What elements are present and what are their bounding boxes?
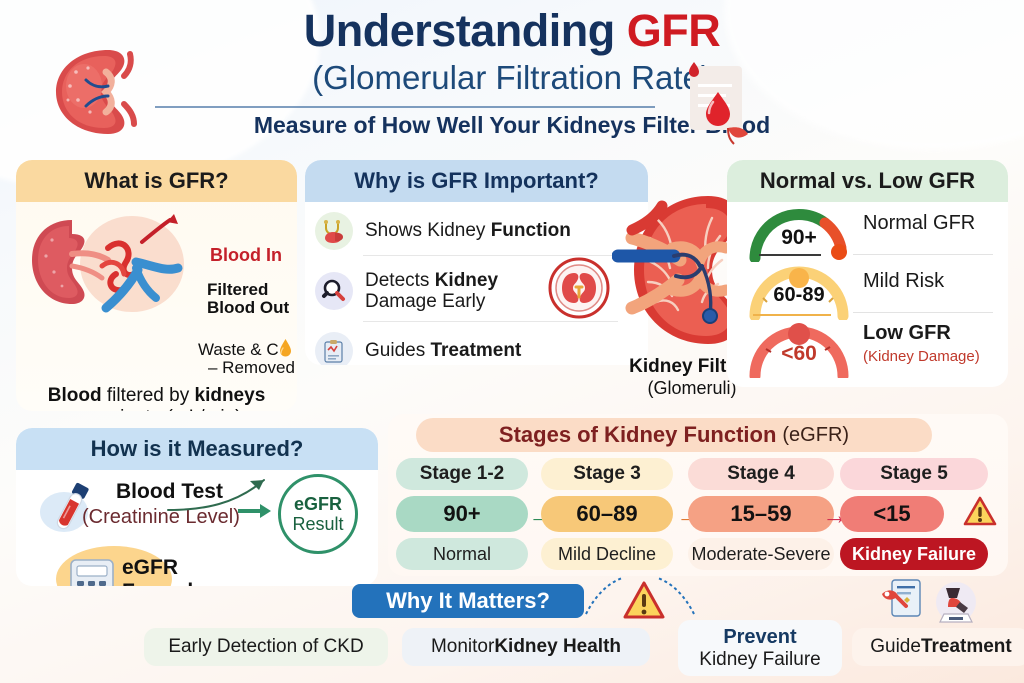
panel-stages-of-kidney-function: Stages of Kidney Function(eGFR) Stage 1-… bbox=[388, 414, 1008, 576]
page-tagline: Measure of How Well Your Kidneys Filter … bbox=[0, 112, 1024, 139]
warning-triangle-icon bbox=[622, 580, 666, 620]
gauge-label-normal: Normal GFR bbox=[863, 212, 975, 235]
header: Understanding GFR (Glomerular Filtration… bbox=[0, 0, 1024, 155]
stage-column-1: Stage 1-2 90+ Normal bbox=[396, 458, 528, 570]
matters-item-guide-treatment: Guide Treatment bbox=[852, 628, 1024, 666]
divider bbox=[853, 312, 993, 313]
curved-arrow-icon bbox=[164, 470, 284, 518]
stage-value: 60–89 bbox=[541, 496, 673, 532]
stethoscope-kidney-icon bbox=[315, 212, 353, 250]
infographic-canvas: Understanding GFR (Glomerular Filtration… bbox=[0, 0, 1024, 683]
stage-description: Kidney Failure bbox=[840, 538, 988, 570]
list-item: Guides Treatment bbox=[315, 326, 631, 365]
clipboard-report-icon bbox=[315, 332, 353, 365]
blood-report-icon bbox=[672, 58, 760, 148]
panel-what-is-gfr: What is GFR? bbox=[16, 160, 297, 411]
stage-description: Normal bbox=[396, 538, 528, 570]
stage-name: Stage 1-2 bbox=[396, 458, 528, 490]
stage-description: Mild Decline bbox=[541, 538, 673, 570]
label-filtered-blood-out: FilteredBlood Out bbox=[207, 281, 289, 317]
panel-what-is-gfr-heading: What is GFR? bbox=[16, 160, 297, 202]
medical-document-icon bbox=[878, 578, 924, 624]
gauge-label-mild: Mild Risk bbox=[863, 270, 944, 293]
panel-normal-vs-low-heading: Normal vs. Low GFR bbox=[727, 160, 1008, 202]
warning-triangle-icon bbox=[963, 496, 997, 526]
stages-heading: Stages of Kidney Function(eGFR) bbox=[416, 418, 932, 452]
matters-item-monitor-health: Monitor Kidney Health bbox=[402, 628, 650, 666]
gauge-label-low: Low GFR bbox=[863, 322, 951, 345]
egfr-result-badge: eGFR Result bbox=[278, 474, 358, 554]
gauge-row-low: <60 Low GFR (Kidney Damage) bbox=[735, 322, 1001, 378]
divider bbox=[853, 254, 993, 255]
stage-name: Stage 5 bbox=[840, 458, 988, 490]
stage-description: Moderate-Severe bbox=[688, 538, 834, 570]
stage-name: Stage 4 bbox=[688, 458, 834, 490]
panel-why-important-heading: Why is GFR Important? bbox=[305, 160, 648, 202]
panel-why-it-matters: Why It Matters? Ea bbox=[130, 578, 1024, 683]
magnifier-icon bbox=[315, 272, 353, 310]
label-blood-in: Blood In bbox=[210, 246, 282, 265]
why-it-matters-heading: Why It Matters? bbox=[352, 584, 584, 618]
page-title: Understanding GFR bbox=[0, 6, 1024, 56]
gauge-value-normal: 90+ bbox=[747, 226, 851, 250]
stage-value: 90+ bbox=[396, 496, 528, 532]
divider bbox=[363, 255, 618, 256]
page-title-accent: GFR bbox=[627, 5, 721, 56]
calculator-icon bbox=[68, 558, 116, 586]
urine-drop-icon bbox=[278, 338, 293, 358]
stage-name: Stage 3 bbox=[541, 458, 673, 490]
gauge-note-low: (Kidney Damage) bbox=[863, 348, 980, 365]
stage-column-3: Stage 4 15–59 Moderate-Severe bbox=[688, 458, 834, 570]
list-item-label: Guides Treatment bbox=[365, 340, 521, 361]
stage-value: <15 bbox=[840, 496, 944, 532]
list-item-label: Shows Kidney Function bbox=[365, 220, 571, 241]
glomerulus-diagram-icon bbox=[24, 208, 184, 330]
panel-normal-vs-low-gfr: Normal vs. Low GFR 90+ Normal GFR bbox=[727, 160, 1008, 387]
title-divider bbox=[155, 106, 655, 108]
page-subtitle: (Glomerular Filtration Rate) bbox=[0, 60, 1024, 96]
divider bbox=[363, 321, 618, 322]
matters-item-prevent-failure: Prevent Kidney Failure bbox=[678, 620, 842, 676]
what-is-gfr-footer: Blood filtered by kidneys per minute (mL… bbox=[16, 385, 297, 411]
matters-item-early-detection: Early Detection of CKD bbox=[144, 628, 388, 666]
stage-column-2: Stage 3 60–89 Mild Decline bbox=[541, 458, 673, 570]
gauge-value-mild: 60-89 bbox=[747, 284, 851, 307]
page-title-main: Understanding bbox=[304, 5, 627, 56]
gauge-value-low: <60 bbox=[747, 342, 851, 366]
treatment-stamp-icon bbox=[930, 580, 982, 632]
kidney-damage-circle-icon bbox=[548, 257, 610, 319]
panel-how-measured-heading: How is it Measured? bbox=[16, 428, 378, 470]
list-item-label: Detects Kidney Damage Early bbox=[365, 270, 498, 313]
list-item: Shows Kidney Function bbox=[315, 206, 631, 256]
stage-value: 15–59 bbox=[688, 496, 834, 532]
panel-how-measured: How is it Measured? Blood Test (Creatini… bbox=[16, 428, 378, 586]
